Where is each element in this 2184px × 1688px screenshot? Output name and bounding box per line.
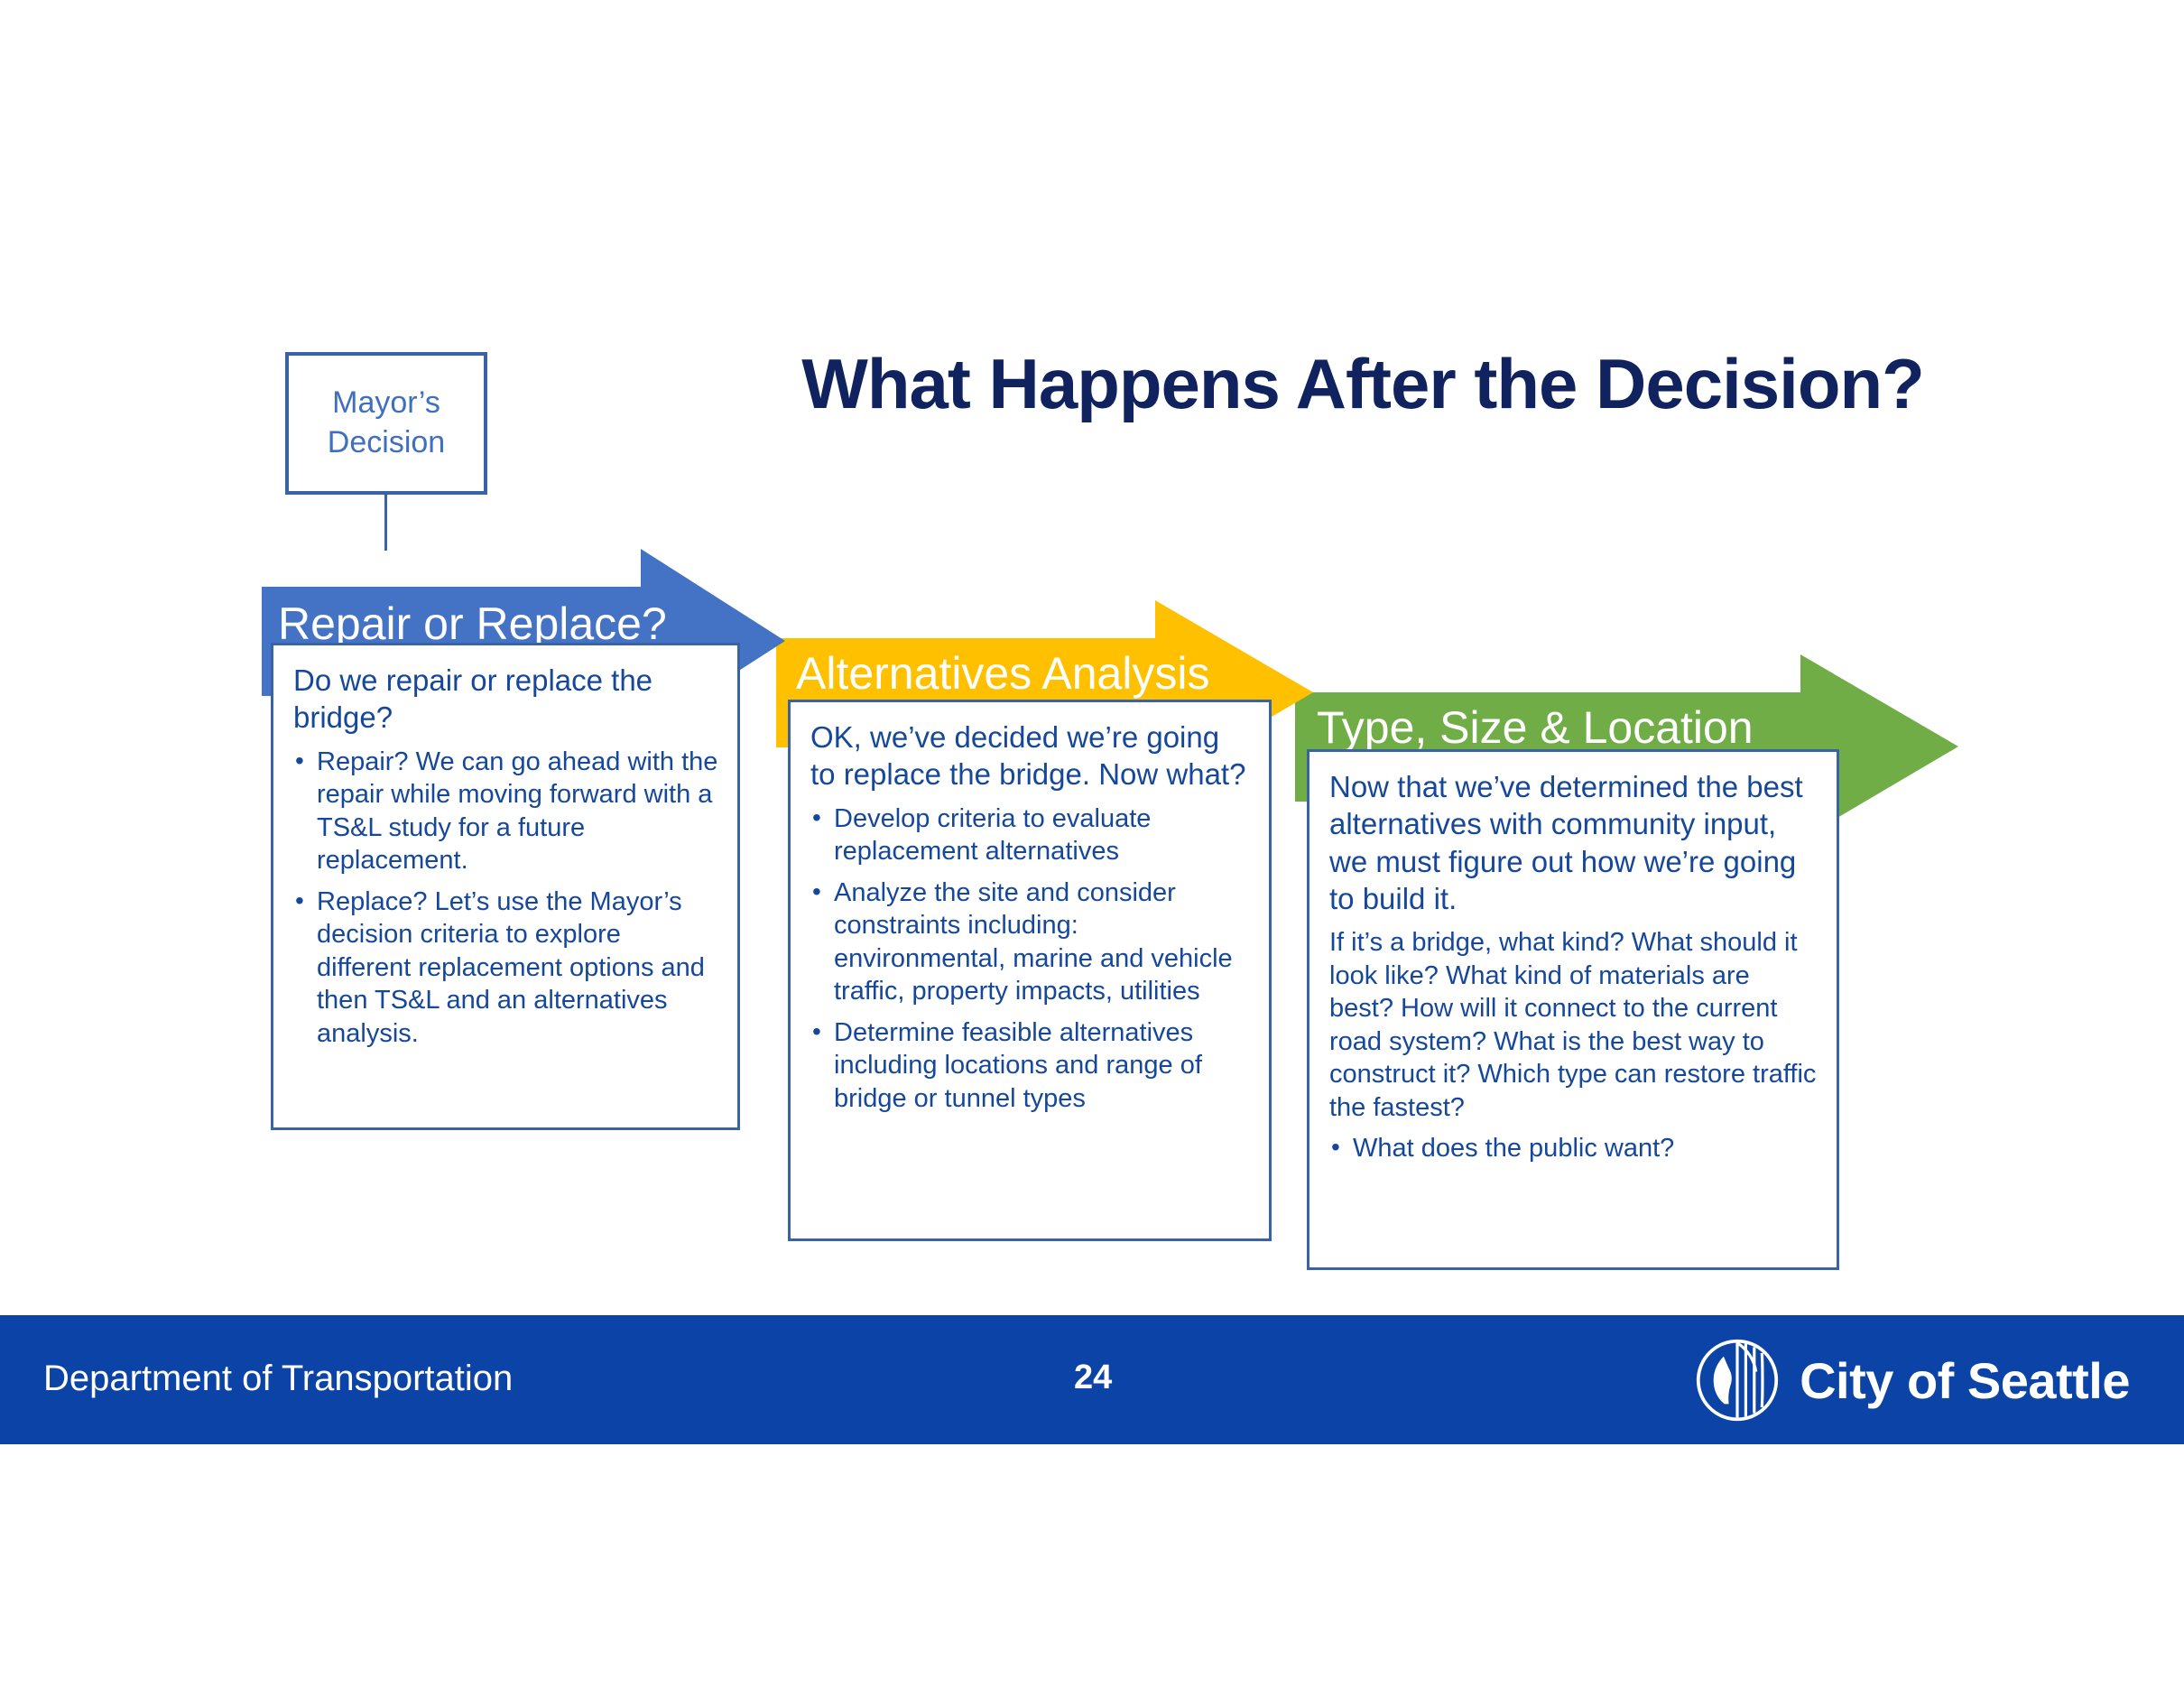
seattle-seal-icon [1695, 1338, 1780, 1423]
stage-lead-alternatives-analysis: OK, we’ve decided we’re going to replace… [810, 719, 1251, 793]
list-item: Analyze the site and consider constraint… [810, 876, 1251, 1008]
list-item: Develop criteria to evaluate replacement… [810, 802, 1251, 868]
list-item: Repair? We can go ahead with the repair … [293, 746, 719, 877]
stage-arrow-label-repair-or-replace: Repair or Replace? [278, 601, 667, 646]
stage-bullets-type-size-location: What does the public want? [1329, 1132, 1818, 1165]
list-item: Determine feasible alternatives includin… [810, 1016, 1251, 1116]
mayors-decision-line1: Mayor’s [332, 384, 440, 423]
page-title: What Happens After the Decision? [596, 348, 2130, 422]
stage-paragraph-type-size-location: If it’s a bridge, what kind? What should… [1329, 926, 1818, 1124]
stage-lead-type-size-location: Now that we’ve determined the best alter… [1329, 768, 1818, 917]
slide-canvas: What Happens After the Decision? Mayor’s… [0, 0, 2184, 1688]
stage-content-type-size-location: Now that we’ve determined the best alter… [1307, 749, 1839, 1270]
footer-department-label: Department of Transportation [43, 1359, 513, 1399]
footer-bar: Department of Transportation 24 [0, 1315, 2184, 1444]
stage-arrow-label-alternatives-analysis: Alternatives Analysis [796, 651, 1210, 696]
stage-arrow-label-type-size-location: Type, Size & Location [1317, 705, 1754, 750]
list-item: Replace? Let’s use the Mayor’s decision … [293, 886, 719, 1051]
mayors-decision-box: Mayor’s Decision [285, 352, 487, 495]
footer-page-number: 24 [1074, 1359, 1112, 1397]
stage-content-repair-or-replace: Do we repair or replace the bridge? Repa… [271, 643, 740, 1130]
mayors-decision-line2: Decision [328, 423, 445, 463]
mayors-decision-connector-line [384, 495, 387, 551]
stage-bullets-repair-or-replace: Repair? We can go ahead with the repair … [293, 746, 719, 1051]
stage-content-alternatives-analysis: OK, we’ve decided we’re going to replace… [788, 700, 1272, 1241]
city-of-seattle-wordmark: City of Seattle [1800, 1351, 2130, 1410]
list-item: What does the public want? [1329, 1132, 1818, 1165]
city-of-seattle-logo: City of Seattle [1695, 1338, 2130, 1423]
stage-bullets-alternatives-analysis: Develop criteria to evaluate replacement… [810, 802, 1251, 1116]
stage-lead-repair-or-replace: Do we repair or replace the bridge? [293, 662, 719, 737]
